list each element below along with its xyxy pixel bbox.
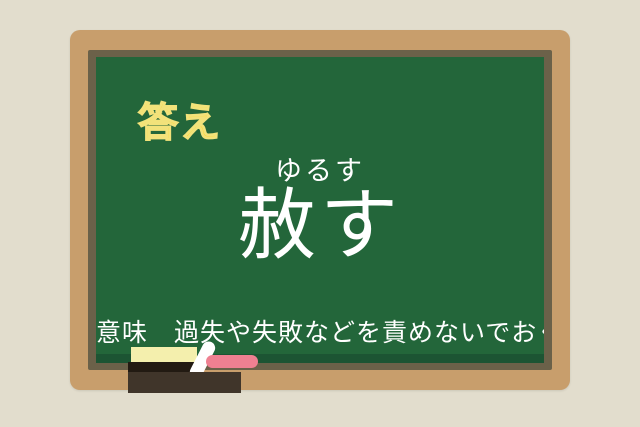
answer-title: 答え bbox=[138, 103, 222, 143]
word-block: ゆるす 赦す bbox=[96, 157, 544, 267]
headword-kanji: 赦す bbox=[96, 185, 544, 267]
eraser-felt-icon bbox=[131, 347, 197, 363]
blackboard-frame: 答え ゆるす 赦す 意味 過失や失敗などを責めないでおく。 bbox=[70, 30, 570, 390]
pink-chalk-icon bbox=[206, 355, 258, 368]
chalkboard-scene: 答え ゆるす 赦す 意味 過失や失敗などを責めないでおく。 bbox=[0, 0, 640, 427]
meaning-text: 意味 過失や失敗などを責めないでおく。 bbox=[96, 319, 544, 349]
blackboard-surface: 答え ゆるす 赦す 意味 過失や失敗などを責めないでおく。 bbox=[96, 57, 544, 363]
chalk-tray-icon bbox=[128, 372, 241, 393]
blackboard-bevel: 答え ゆるす 赦す 意味 過失や失敗などを責めないでおく。 bbox=[88, 50, 552, 370]
